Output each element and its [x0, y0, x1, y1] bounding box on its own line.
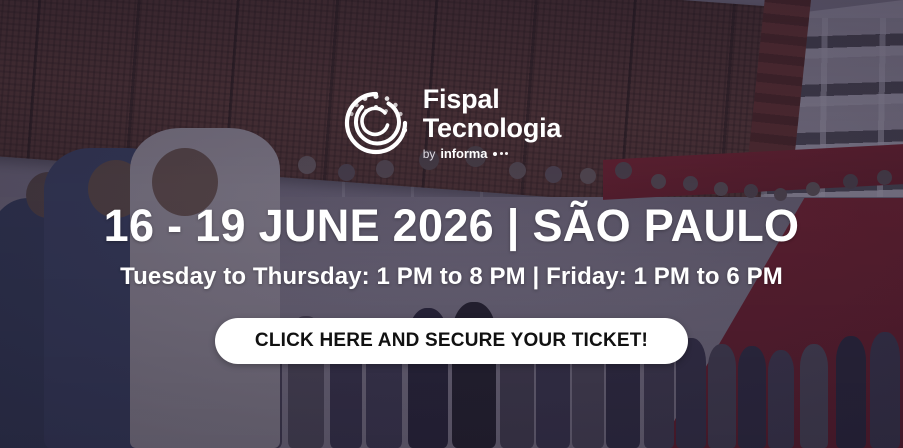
- informa-byline: by informa: [423, 147, 562, 160]
- fispal-concentric-rings-icon: [342, 89, 410, 157]
- informa-three-dots-icon: [493, 152, 508, 156]
- logo-word-tecnologia: Tecnologia: [423, 115, 562, 142]
- secure-ticket-button[interactable]: CLICK HERE AND SECURE YOUR TICKET!: [215, 318, 688, 364]
- by-label: by: [423, 148, 436, 160]
- informa-wordmark: informa: [440, 147, 487, 160]
- fispal-tecnologia-logo[interactable]: Fispal Tecnologia by informa: [342, 86, 562, 160]
- logo-word-fispal: Fispal: [423, 86, 562, 113]
- event-hours-subheadline: Tuesday to Thursday: 1 PM to 8 PM | Frid…: [120, 263, 783, 291]
- event-hero-banner: Fispal Tecnologia by informa 16 - 19 JUN…: [0, 0, 903, 448]
- event-dates-headline: 16 - 19 JUNE 2026 | SÃO PAULO: [104, 200, 800, 252]
- hero-content: Fispal Tecnologia by informa 16 - 19 JUN…: [0, 0, 903, 448]
- logo-wordmark: Fispal Tecnologia by informa: [423, 86, 562, 160]
